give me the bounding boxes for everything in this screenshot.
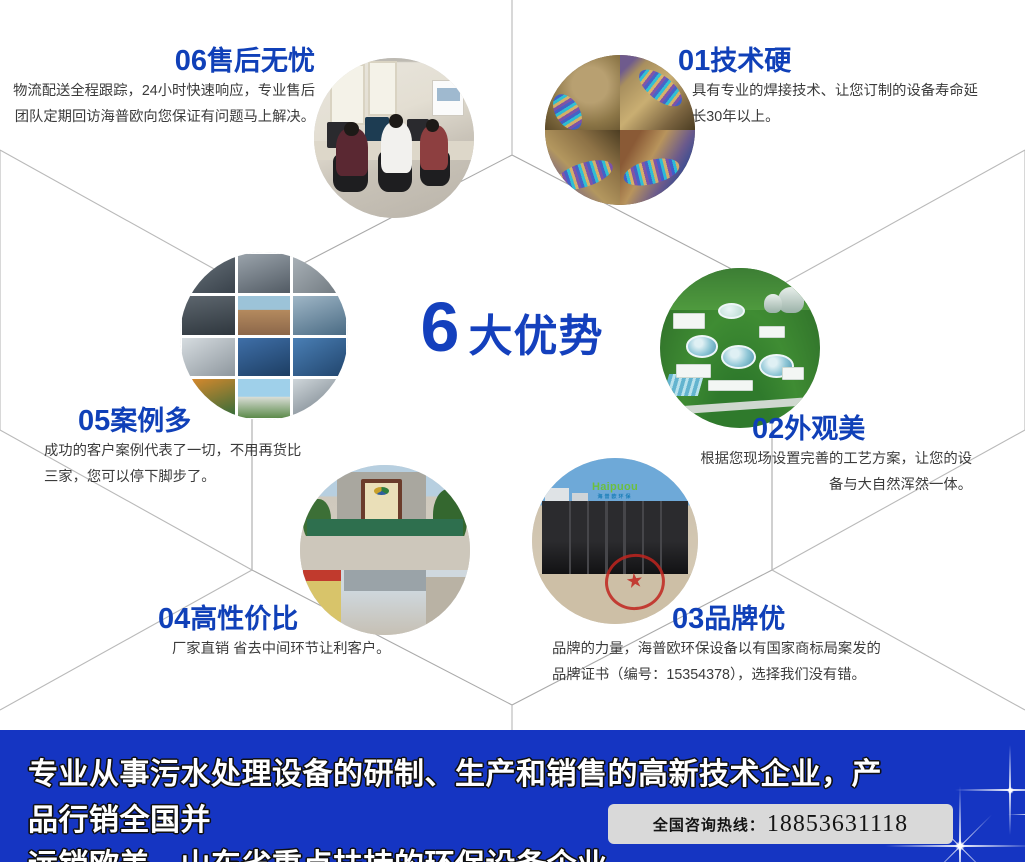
infographic-stage: Haipuou 海普欧环保 06售 — [0, 0, 1025, 862]
haipuou-brand-logo: Haipuou 海普欧环保 — [592, 481, 638, 500]
advantage-number-05: 05 — [78, 405, 110, 437]
advantage-name-02: 外观美 — [784, 414, 865, 444]
advantage-body-03: 品牌的力量，海普欧环保设备以有国家商标局案发的品牌证书（编号：15354378）… — [552, 636, 892, 689]
advantage-number-06: 06 — [175, 45, 207, 77]
advantage-title-01: 01技术硬 — [678, 46, 978, 78]
advantage-body-06: 物流配送全程跟踪，24小时快速响应，专业售后团队定期回访海普欧向您保证有问题马上… — [10, 78, 315, 131]
advantage-body-02: 根据您现场设置完善的工艺方案，让您的设备与大自然浑然一体。 — [700, 446, 972, 499]
advantage-title-03: 03品牌优 — [672, 604, 992, 636]
hotline-number: 18853631118 — [767, 811, 908, 838]
center-label-text: 大优势 — [468, 300, 603, 364]
advantage-name-03: 品牌优 — [704, 604, 785, 634]
sparkle-icon-2 — [950, 730, 1025, 850]
advantage-title-02: 02外观美 — [752, 414, 1020, 446]
case-collage-photo — [180, 252, 348, 420]
hotline-label: 全国咨询热线： — [653, 814, 765, 835]
advantage-title-04: 04高性价比 — [158, 604, 418, 636]
advantage-title-06: 06售后无忧 — [10, 46, 315, 78]
brand-cn: 海普欧环保 — [592, 493, 638, 500]
footer-slogan-line-2: 远销欧美，山东省重点扶持的环保设备企业。 — [28, 843, 908, 862]
welding-pipes-photo — [545, 55, 695, 205]
center-headline: 6 大优势 — [392, 292, 632, 364]
advantage-block-05: 05案例多 成功的客户案例代表了一切，不用再货比三家，您可以停下脚步了。 — [78, 406, 328, 491]
advantage-body-05: 成功的客户案例代表了一切，不用再货比三家，您可以停下脚步了。 — [44, 438, 306, 491]
advantage-block-06: 06售后无忧 物流配送全程跟踪，24小时快速响应，专业售后团队定期回访海普欧向您… — [10, 46, 315, 131]
advantage-block-01: 01技术硬 具有专业的焊接技术、让您订制的设备寿命延长30年以上。 — [678, 46, 978, 131]
sparkle-icon-3 — [1000, 784, 1025, 844]
aerial-plant-photo — [660, 268, 820, 428]
office-team-photo — [314, 58, 474, 218]
advantage-body-04: 厂家直销 省去中间环节让利客户。 — [158, 636, 418, 662]
advantage-number-02: 02 — [752, 413, 784, 445]
advantage-block-04: 04高性价比 厂家直销 省去中间环节让利客户。 — [158, 604, 418, 662]
advantage-name-04: 高性价比 — [190, 604, 298, 634]
advantage-number-03: 03 — [672, 603, 704, 635]
advantage-name-01: 技术硬 — [710, 46, 791, 76]
center-number: 6 — [421, 292, 459, 362]
advantage-number-01: 01 — [678, 45, 710, 77]
equipment-trademark-photo: Haipuou 海普欧环保 — [532, 458, 698, 624]
advantage-title-05: 05案例多 — [78, 406, 328, 438]
advantage-block-03: 03品牌优 品牌的力量，海普欧环保设备以有国家商标局案发的品牌证书（编号：153… — [672, 604, 992, 689]
advantage-body-01: 具有专业的焊接技术、让您订制的设备寿命延长30年以上。 — [678, 78, 978, 131]
hotline-box[interactable]: 全国咨询热线： 18853631118 — [608, 804, 953, 844]
advantage-name-06: 售后无忧 — [207, 46, 315, 76]
advantage-block-02: 02外观美 根据您现场设置完善的工艺方案，让您的设备与大自然浑然一体。 — [752, 414, 1020, 499]
advantage-number-04: 04 — [158, 603, 190, 635]
advantage-name-05: 案例多 — [110, 406, 191, 436]
